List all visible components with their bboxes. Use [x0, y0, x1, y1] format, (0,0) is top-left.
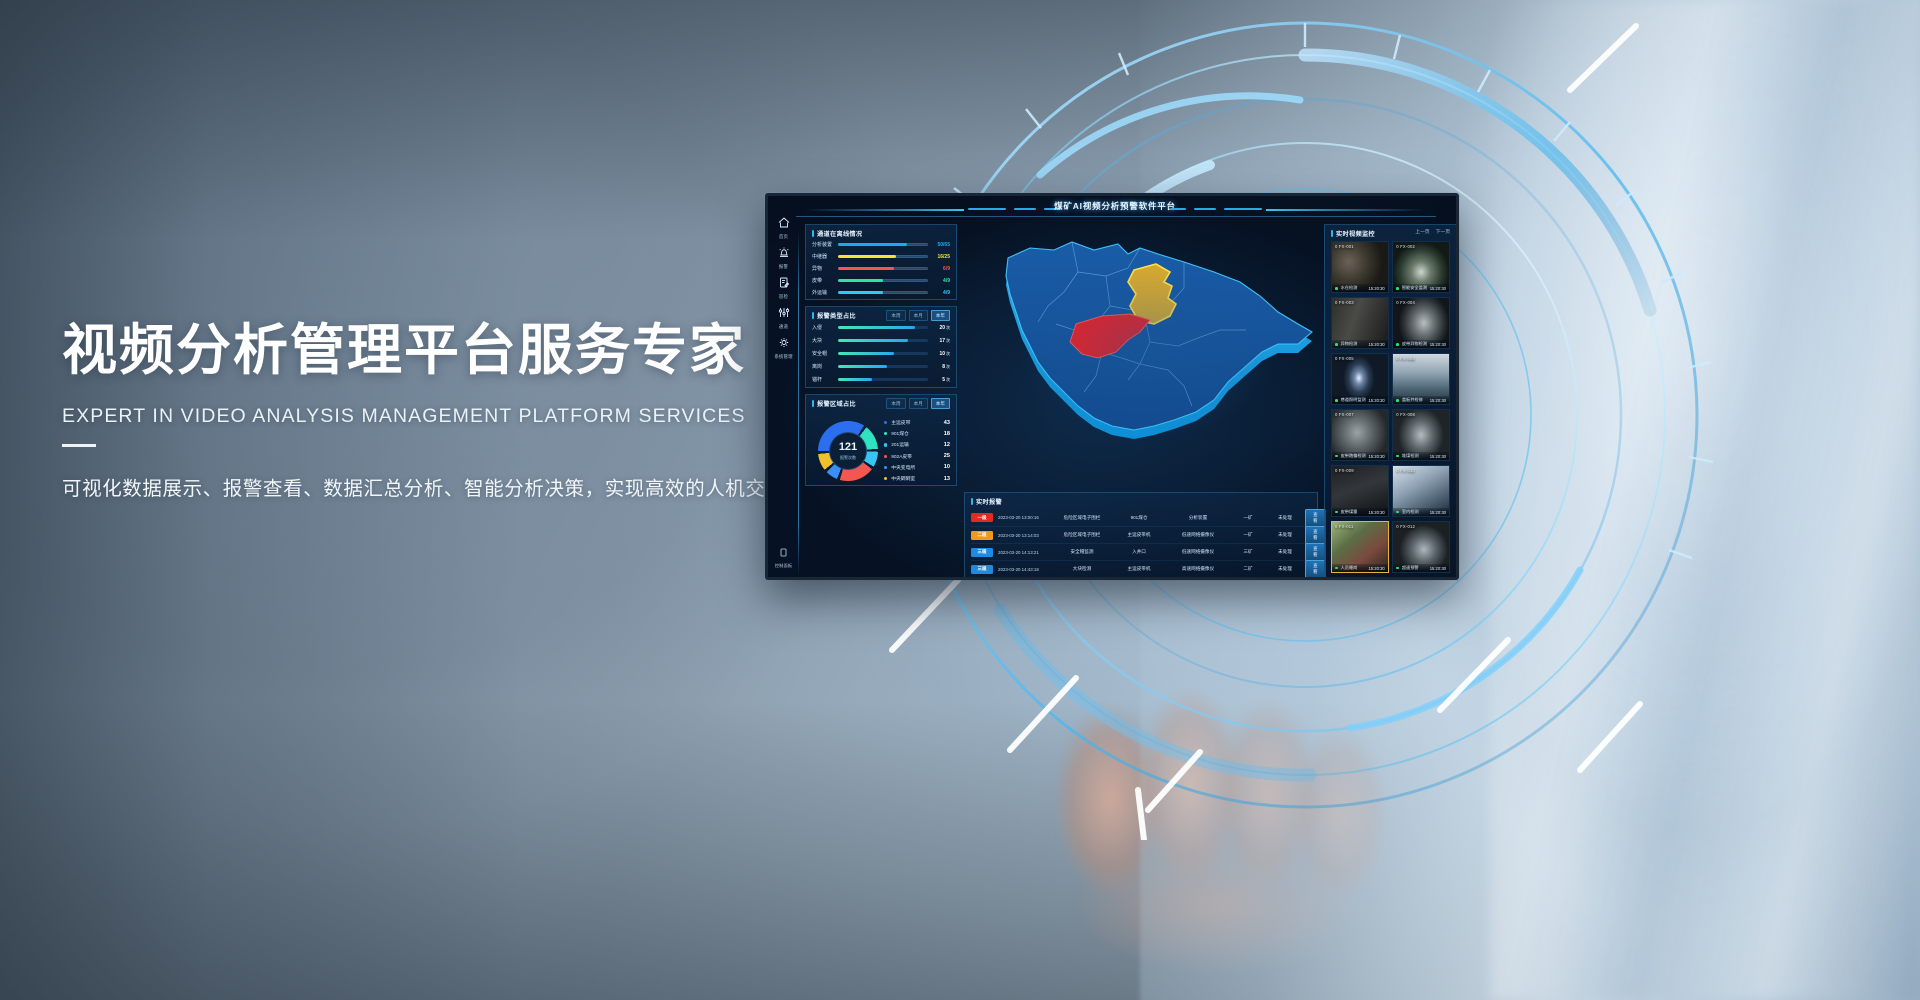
online-indicator-dot	[1396, 287, 1399, 290]
alarm-type-value: 8次	[928, 364, 950, 370]
sidebar-item-alarm-label: 报警	[768, 264, 799, 270]
video-status-bar: 异物检测15:20:30	[1332, 340, 1388, 348]
alarm-area-tab[interactable]: 本周	[886, 398, 905, 409]
realtime-alarm-panel: 实时报警 一级2023-03-20 13:00:16危险区域电子围栏901煤仓分…	[964, 492, 1318, 578]
alarm-action-cell[interactable]: 查看	[1305, 543, 1326, 561]
legend-label: 中央变电所	[891, 464, 944, 471]
panel-icon	[768, 545, 799, 561]
sidebar[interactable]: 首页 报警	[768, 214, 799, 577]
camera-name: 堆煤检测	[1402, 453, 1430, 459]
video-status-bar: 水仓检测15:20:30	[1332, 284, 1388, 292]
alarm-time: 2023-03-20 14:43:18	[993, 567, 1051, 572]
video-status-bar: 室内检测15:20:30	[1393, 508, 1449, 516]
legend-value: 13	[944, 476, 950, 482]
camera-timestamp: 15:20:30	[1368, 398, 1384, 403]
view-button[interactable]: 查看	[1305, 509, 1326, 527]
alarm-type-unit: 次	[946, 377, 950, 382]
camera-timestamp: 15:20:30	[1430, 510, 1446, 515]
video-status-bar: 皮带跑偏检测15:20:30	[1332, 452, 1388, 460]
table-row[interactable]: 三级2023-03-20 14:43:18大块检测主运皮带机高速网络摄像仪二矿未…	[971, 560, 1311, 577]
view-button[interactable]: 查看	[1305, 543, 1326, 561]
sidebar-item-channel-label: 通道	[768, 324, 799, 330]
video-feed-cell[interactable]: 0 FX-011人员睡岗15:20:30	[1331, 521, 1389, 573]
region-map[interactable]	[978, 220, 1318, 470]
camera-timestamp: 15:20:30	[1368, 566, 1384, 571]
alarm-type-tab[interactable]: 本年	[931, 310, 950, 321]
dashboard-background: 煤矿AI视频分析预警软件平台 首页	[768, 196, 1456, 577]
donut-center-value: 121	[839, 442, 857, 453]
alarm-type-name: 大块	[812, 337, 838, 344]
online-indicator-dot	[1396, 567, 1399, 570]
legend-value: 10	[944, 464, 950, 470]
alarm-area-tabs[interactable]: 本周本月本年	[886, 398, 950, 409]
status-badge: 一级	[971, 513, 993, 522]
camera-timestamp: 15:20:30	[1368, 286, 1384, 291]
alarm-area-title: 报警区域占比	[812, 399, 856, 408]
camera-id: 0 FX-002	[1396, 244, 1415, 249]
alarm-area-panel: 报警区域占比 本周本月本年 121 报警次数 主运皮带43901煤仓18201运…	[805, 394, 957, 486]
legend-label: 中央碉硐室	[891, 475, 944, 482]
alarm-mine: 二矿	[1231, 566, 1265, 572]
camera-name: 室内检测	[1402, 509, 1430, 515]
camera-name: 皮带异物检测	[1402, 341, 1430, 347]
camera-timestamp: 15:20:30	[1430, 566, 1446, 571]
camera-name: 盖板井检修	[1402, 397, 1430, 403]
alarm-area: 主运皮带机	[1113, 566, 1165, 572]
alarm-device: 高速网络摄像仪	[1165, 566, 1231, 572]
alarm-type-value: 17次	[928, 338, 950, 344]
online-indicator-dot	[1396, 455, 1399, 458]
alarm-type-name: 离岗	[812, 363, 838, 370]
video-status-bar: 堆煤检测15:20:30	[1393, 452, 1449, 460]
view-button[interactable]: 查看	[1305, 526, 1326, 544]
channel-name: 分析装置	[812, 241, 838, 248]
channel-icon	[768, 306, 799, 322]
online-indicator-dot	[1335, 455, 1338, 458]
alarm-type-progress-bar	[838, 339, 928, 342]
camera-name: 皮带跑偏检测	[1341, 453, 1369, 459]
alarm-area-legend-row: 902A皮带25	[884, 451, 950, 462]
hero-divider	[62, 444, 96, 447]
legend-color-dot	[884, 455, 887, 458]
next-page-button[interactable]: 下一页	[1436, 228, 1450, 235]
prev-page-button[interactable]: 上一页	[1415, 228, 1429, 235]
alarm-time: 2023-03-20 14:13:21	[993, 550, 1051, 555]
online-indicator-dot	[1335, 567, 1338, 570]
camera-id: 0 FX-007	[1335, 412, 1354, 417]
status-badge: 二级	[971, 531, 993, 540]
alarm-area-legend-row: 201运输12	[884, 439, 950, 450]
alarm-action-cell[interactable]: 查看	[1305, 577, 1326, 580]
alarm-status: 未处理	[1265, 549, 1305, 555]
alarm-status: 未处理	[1265, 532, 1305, 538]
donut-center-caption: 报警次数	[840, 455, 856, 461]
channel-value: 4/9	[928, 278, 950, 284]
video-feed-cell[interactable]: 0 FX-007皮带跑偏检测15:20:30	[1331, 409, 1389, 461]
alarm-type-panel: 报警类型占比 本周本月本年 入侵20次大块17次安全帽10次离岗8次锚杆5次	[805, 306, 957, 388]
online-indicator-dot	[1335, 343, 1338, 346]
camera-id: 0 FX-011	[1335, 524, 1354, 529]
video-monitor-title: 实时视频监控	[1331, 229, 1375, 238]
alarm-action-cell[interactable]: 查看	[1305, 560, 1326, 578]
legend-color-dot	[884, 432, 887, 435]
alarm-type-tab[interactable]: 本月	[909, 310, 928, 321]
sidebar-item-inspection-label: 巡检	[768, 294, 799, 300]
alarm-type-tab[interactable]: 本周	[886, 310, 905, 321]
camera-id: 0 FX-005	[1335, 356, 1354, 361]
alarm-type: 危险区域电子围栏	[1051, 532, 1113, 538]
video-status-bar: 人员睡岗15:20:30	[1332, 564, 1388, 572]
channel-progress-bar	[838, 255, 928, 258]
alarm-type-row: 锚杆5次	[812, 375, 950, 384]
channel-status-row: 分析装置50/65	[812, 240, 950, 249]
online-indicator-dot	[1335, 287, 1338, 290]
alarm-mine: 一矿	[1231, 532, 1265, 538]
sidebar-item-panel-label: 控制面板	[768, 563, 799, 569]
sidebar-item-home[interactable]: 首页	[768, 216, 799, 240]
dashboard-screen[interactable]: 煤矿AI视频分析预警软件平台 首页	[765, 193, 1459, 580]
alarm-type: 大块检测	[1051, 566, 1113, 572]
channel-name: 外运输	[812, 289, 838, 296]
alarm-type-row: 入侵20次	[812, 323, 950, 332]
legend-value: 43	[944, 420, 950, 426]
alarm-area: 901煤仓	[1113, 515, 1165, 521]
video-feed-cell[interactable]: 0 FX-004皮带异物检测15:20:30	[1392, 297, 1450, 349]
camera-timestamp: 15:20:30	[1430, 398, 1446, 403]
alarm-type-title: 报警类型占比	[812, 311, 856, 320]
camera-name: 人员睡岗	[1341, 565, 1369, 571]
alarm-type-name: 锚杆	[812, 376, 838, 383]
legend-label: 主运皮带	[891, 419, 944, 426]
channel-progress-bar	[838, 291, 928, 294]
sidebar-item-panel[interactable]: 控制面板	[768, 545, 799, 569]
video-status-bar: 皮带异物检测15:20:30	[1393, 340, 1449, 348]
dashboard-header: 煤矿AI视频分析预警软件平台	[768, 196, 1459, 220]
channel-status-row: 外运输4/9	[812, 288, 950, 297]
status-badge: 三级	[971, 548, 993, 557]
alarm-type-unit: 次	[946, 351, 950, 356]
camera-id: 0 FX-001	[1335, 244, 1354, 249]
alarm-type-value: 20次	[928, 325, 950, 331]
alarm-type-row: 安全帽10次	[812, 349, 950, 358]
camera-name: 巷道照明监测	[1341, 397, 1369, 403]
camera-name: 水仓检测	[1341, 285, 1369, 291]
alarm-device: 低速网络摄像仪	[1165, 549, 1231, 555]
camera-timestamp: 15:20:30	[1430, 342, 1446, 347]
camera-timestamp: 15:20:30	[1430, 454, 1446, 459]
online-indicator-dot	[1396, 343, 1399, 346]
camera-id: 0 FX-008	[1396, 412, 1415, 417]
channel-value: 50/65	[928, 242, 950, 248]
camera-id: 0 FX-009	[1335, 468, 1354, 473]
legend-label: 901煤仓	[891, 430, 944, 437]
legend-value: 25	[944, 453, 950, 459]
sidebar-item-inspection[interactable]: 巡检	[768, 276, 799, 300]
alarm-type-name: 入侵	[812, 324, 838, 331]
view-button[interactable]: 查看	[1305, 577, 1326, 580]
video-feed-cell[interactable]: 0 FX-012超速预警15:20:30	[1392, 521, 1450, 573]
video-feed-cell[interactable]: 0 FX-001水仓检测15:20:30	[1331, 241, 1389, 293]
sidebar-item-alarm[interactable]: 报警	[768, 246, 799, 270]
alarm-action-cell[interactable]: 查看	[1305, 509, 1326, 527]
video-feed-cell[interactable]: 0 FX-005巷道照明监测15:20:30	[1331, 353, 1389, 405]
alarm-mine: 一矿	[1231, 515, 1265, 521]
video-grid[interactable]: 0 FX-001水仓检测15:20:300 FX-002智能安全监测15:20:…	[1331, 241, 1450, 573]
video-status-bar: 巷道照明监测15:20:30	[1332, 396, 1388, 404]
alarm-type-row: 离岗8次	[812, 362, 950, 371]
alarm-type-value: 10次	[928, 351, 950, 357]
video-feed-cell[interactable]: 0 FX-008堆煤检测15:20:30	[1392, 409, 1450, 461]
sidebar-item-system[interactable]: 系统管理	[768, 336, 799, 360]
alarm-table[interactable]: 一级2023-03-20 13:00:16危险区域电子围栏901煤仓分析装置一矿…	[971, 509, 1311, 574]
alarm-type-progress-bar	[838, 365, 928, 368]
channel-progress-bar	[838, 243, 928, 246]
video-feed-cell[interactable]: 0 FX-002智能安全监测15:20:30	[1392, 241, 1450, 293]
camera-id: 0 FX-006	[1396, 356, 1415, 361]
channel-name: 皮带	[812, 277, 838, 284]
alarm-type: 安全帽监测	[1051, 549, 1113, 555]
camera-id: 0 FX-010	[1396, 468, 1415, 473]
alarm-type: 危险区域电子围栏	[1051, 515, 1113, 521]
channel-value: 16/25	[928, 254, 950, 260]
sidebar-item-channel[interactable]: 通道	[768, 306, 799, 330]
alarm-area-legend-row: 主运皮带43	[884, 417, 950, 428]
channel-progress-bar	[838, 279, 928, 282]
view-button[interactable]: 查看	[1305, 560, 1326, 578]
video-feed-cell[interactable]: 0 FX-006盖板井检修15:20:30	[1392, 353, 1450, 405]
alarm-type-name: 安全帽	[812, 350, 838, 357]
video-status-bar: 智能安全监测15:20:30	[1393, 284, 1449, 292]
channel-status-row: 中继器16/25	[812, 252, 950, 261]
alarm-type-progress-bar	[838, 326, 928, 329]
video-status-bar: 皮带煤量15:20:30	[1332, 508, 1388, 516]
channel-status-row: 异物6/9	[812, 264, 950, 273]
map-glow	[978, 220, 1318, 470]
sidebar-item-home-label: 首页	[768, 234, 799, 240]
online-indicator-dot	[1335, 399, 1338, 402]
inspection-icon	[768, 276, 799, 292]
alarm-area-legend-row: 901煤仓18	[884, 428, 950, 439]
alarm-type-progress-bar	[838, 352, 928, 355]
table-row[interactable]: 三级2023-03-20 15:08:00大块检测主运皮带机高速网络摄像仪二矿未…	[971, 577, 1311, 580]
camera-timestamp: 15:20:30	[1368, 510, 1384, 515]
alarm-area-tab[interactable]: 本月	[909, 398, 928, 409]
camera-timestamp: 15:20:30	[1368, 342, 1384, 347]
channel-status-row: 皮带4/9	[812, 276, 950, 285]
camera-id: 0 FX-012	[1396, 524, 1415, 529]
channel-status-title: 通道在离线情况	[812, 229, 862, 238]
alarm-type-unit: 次	[946, 364, 950, 369]
alarm-area-legend: 主运皮带43901煤仓18201运输12902A皮带25中央变电所10中央碉硐室…	[884, 417, 950, 484]
legend-value: 18	[944, 431, 950, 437]
status-badge: 三级	[971, 565, 993, 574]
table-row[interactable]: 二级2023-03-20 13:14:03危险区域电子围栏主运皮带机低速网络摄像…	[971, 526, 1311, 543]
video-status-bar: 盖板井检修15:20:30	[1393, 396, 1449, 404]
alarm-area: 主运皮带机	[1113, 532, 1165, 538]
table-row[interactable]: 三级2023-03-20 14:13:21安全帽监测入井口低速网络摄像仪三矿未处…	[971, 543, 1311, 560]
camera-id: 0 FX-004	[1396, 300, 1415, 305]
alarm-time: 2023-03-20 13:00:16	[993, 515, 1051, 520]
alarm-type-value: 5次	[928, 377, 950, 383]
legend-color-dot	[884, 466, 887, 469]
legend-color-dot	[884, 477, 887, 480]
channel-value: 6/9	[928, 266, 950, 272]
camera-timestamp: 15:20:30	[1368, 454, 1384, 459]
alarm-area-legend-row: 中央变电所10	[884, 462, 950, 473]
alarm-icon	[768, 246, 799, 262]
alarm-type-unit: 次	[946, 325, 950, 330]
table-row[interactable]: 一级2023-03-20 13:00:16危险区域电子围栏901煤仓分析装置一矿…	[971, 509, 1311, 526]
alarm-type-tabs[interactable]: 本周本月本年	[886, 310, 950, 321]
online-indicator-dot	[1396, 399, 1399, 402]
camera-name: 超速预警	[1402, 565, 1430, 571]
video-status-bar: 超速预警15:20:30	[1393, 564, 1449, 572]
video-monitor-panel: 实时视频监控 上一页 下一页 0 FX-001水仓检测15:20:300 FX-…	[1324, 224, 1457, 578]
camera-name: 皮带煤量	[1341, 509, 1369, 515]
alarm-mine: 三矿	[1231, 549, 1265, 555]
sidebar-item-system-label: 系统管理	[768, 354, 799, 360]
gear-icon	[768, 336, 799, 352]
video-feed-cell[interactable]: 0 FX-003异物检测15:20:30	[1331, 297, 1389, 349]
channel-name: 异物	[812, 265, 838, 272]
legend-value: 12	[944, 442, 950, 448]
channel-progress-bar	[838, 267, 928, 270]
legend-color-dot	[884, 421, 887, 424]
alarm-device: 低速网络摄像仪	[1165, 532, 1231, 538]
alarm-action-cell[interactable]: 查看	[1305, 526, 1326, 544]
channel-name: 中继器	[812, 253, 838, 260]
legend-label: 902A皮带	[891, 453, 944, 460]
home-icon	[768, 216, 799, 232]
channel-value: 4/9	[928, 290, 950, 296]
channel-status-panel: 通道在离线情况 分析装置50/65中继器16/25异物6/9皮带4/9外运输4/…	[805, 224, 957, 300]
donut-center: 121 报警次数	[829, 432, 867, 470]
alarm-time: 2023-03-20 13:14:03	[993, 533, 1051, 538]
alarm-type-progress-bar	[838, 378, 928, 381]
online-indicator-dot	[1396, 511, 1399, 514]
alarm-area-legend-row: 中央碉硐室13	[884, 473, 950, 484]
camera-id: 0 FX-003	[1335, 300, 1354, 305]
realtime-alarm-title: 实时报警	[971, 497, 1002, 506]
alarm-type-row: 大块17次	[812, 336, 950, 345]
alarm-status: 未处理	[1265, 566, 1305, 572]
alarm-area: 入井口	[1113, 549, 1165, 555]
legend-label: 201运输	[891, 441, 944, 448]
video-feed-cell[interactable]: 0 FX-010室内检测15:20:30	[1392, 465, 1450, 517]
alarm-area-tab[interactable]: 本年	[931, 398, 950, 409]
camera-name: 异物检测	[1341, 341, 1369, 347]
shirt-fold-highlight	[1490, 0, 1920, 1000]
alarm-type-unit: 次	[946, 338, 950, 343]
alarm-status: 未处理	[1265, 515, 1305, 521]
alarm-device: 分析装置	[1165, 515, 1231, 521]
video-feed-cell[interactable]: 0 FX-009皮带煤量15:20:30	[1331, 465, 1389, 517]
camera-timestamp: 15:20:30	[1430, 286, 1446, 291]
camera-name: 智能安全监测	[1402, 285, 1430, 291]
online-indicator-dot	[1335, 511, 1338, 514]
video-pager[interactable]: 上一页 下一页	[1415, 228, 1450, 235]
alarm-area-donut-chart: 121 报警次数	[818, 421, 878, 481]
legend-color-dot	[884, 443, 887, 446]
